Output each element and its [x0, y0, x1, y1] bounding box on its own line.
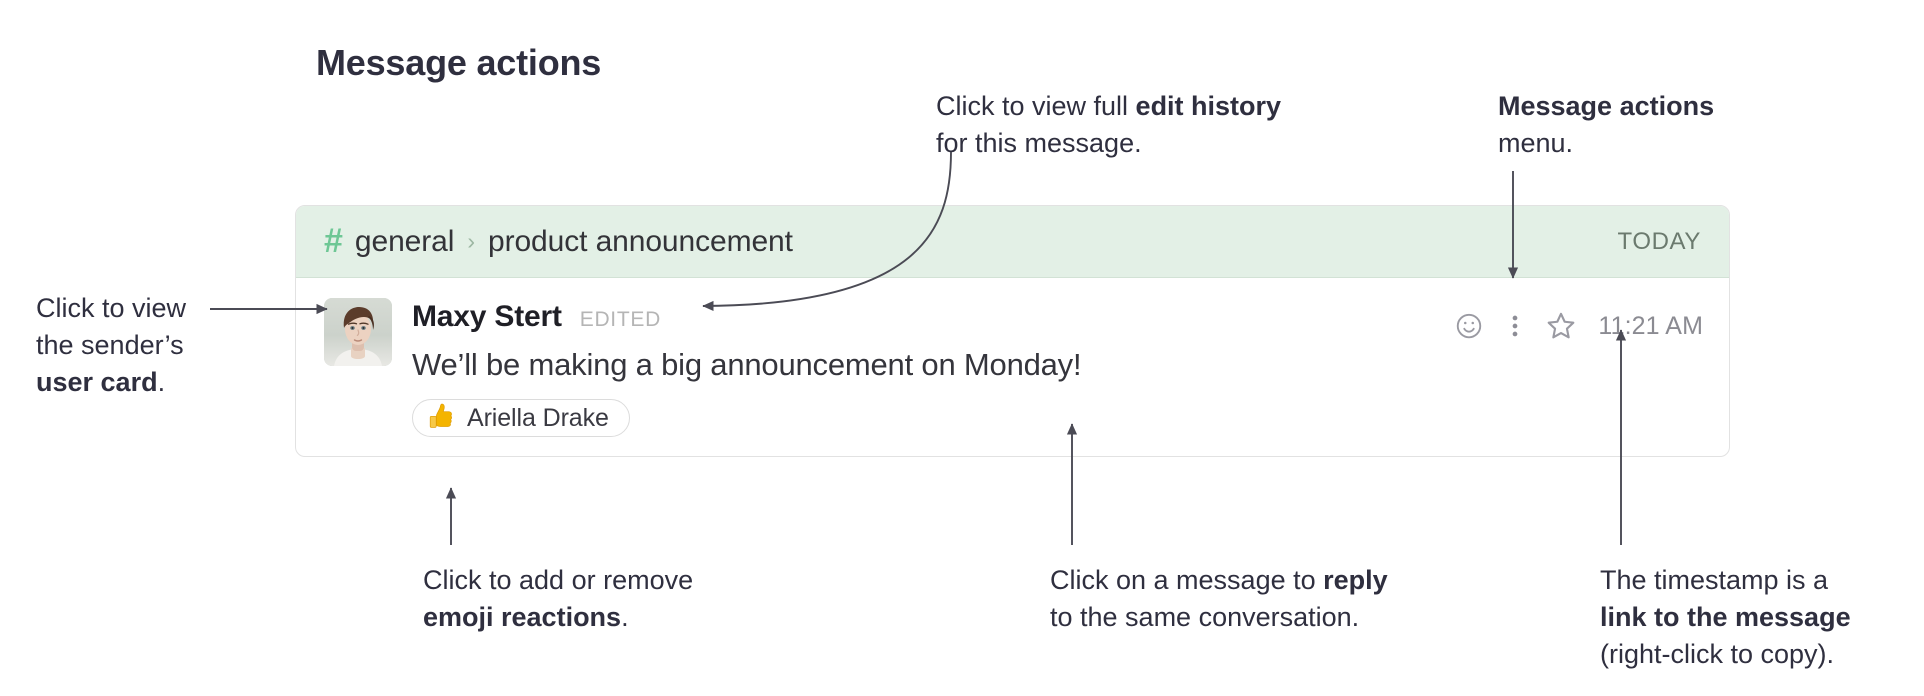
annotation-timestamp-line1: The timestamp is a — [1600, 562, 1851, 599]
avatar[interactable] — [324, 298, 392, 366]
annotation-actions-menu: Message actions menu. — [1498, 88, 1714, 162]
annotation-user-card-line2: the sender’s — [36, 327, 186, 364]
reaction-pill[interactable]: Ariella Drake — [412, 399, 630, 437]
annotation-user-card: Click to view the sender’s user card. — [36, 290, 186, 401]
annotation-text: Click to view full — [936, 91, 1136, 121]
emoji-reaction-icon[interactable] — [1446, 306, 1492, 346]
message-controls: 11:21 AM — [1446, 306, 1703, 346]
topic-name-link[interactable]: product announcement — [488, 225, 793, 259]
annotation-reply-line1: Click on a message to reply — [1050, 562, 1388, 599]
stream-topic-header: # general › product announcement TODAY — [296, 206, 1729, 278]
annotation-emphasis: reply — [1323, 565, 1388, 595]
chevron-right-icon: › — [467, 228, 475, 255]
annotation-edit-history-line2: for this message. — [936, 125, 1281, 162]
date-label: TODAY — [1618, 228, 1701, 256]
stream-name-link[interactable]: general — [355, 225, 454, 259]
message-body[interactable]: We’ll be making a big announcement on Mo… — [412, 345, 1701, 385]
annotation-text: . — [621, 602, 629, 632]
annotation-text: Click on a message to — [1050, 565, 1323, 595]
reactions-row: Ariella Drake — [296, 385, 1729, 438]
reaction-user-names: Ariella Drake — [467, 404, 609, 433]
annotation-timestamp: The timestamp is a link to the message (… — [1600, 562, 1851, 673]
annotation-emphasis: Message actions — [1498, 91, 1714, 121]
annotation-actions-menu-line2: menu. — [1498, 125, 1714, 162]
message-card: # general › product announcement TODAY — [295, 205, 1730, 457]
thumbs-up-emoji — [427, 403, 457, 433]
annotation-emphasis: user card — [36, 367, 158, 397]
annotation-text: . — [158, 367, 166, 397]
annotation-edit-history-line1: Click to view full edit history — [936, 88, 1281, 125]
message-timestamp-link[interactable]: 11:21 AM — [1598, 312, 1703, 341]
annotation-timestamp-line2: link to the message — [1600, 599, 1851, 636]
annotation-reply-line2: to the same conversation. — [1050, 599, 1388, 636]
page-root: Message actions Click to view full edit … — [0, 0, 1924, 696]
annotation-emphasis: emoji reactions — [423, 602, 621, 632]
annotation-emphasis: link to the message — [1600, 602, 1851, 632]
message-row[interactable]: Maxy Stert EDITED We’ll be making a big … — [296, 278, 1729, 385]
page-title: Message actions — [316, 42, 601, 84]
sender-name[interactable]: Maxy Stert — [412, 300, 562, 334]
annotation-emphasis: edit history — [1136, 91, 1282, 121]
annotation-reply: Click on a message to reply to the same … — [1050, 562, 1388, 636]
annotation-emoji-line2: emoji reactions. — [423, 599, 693, 636]
annotation-user-card-line1: Click to view — [36, 290, 186, 327]
annotation-timestamp-line3: (right-click to copy). — [1600, 636, 1851, 673]
annotation-edit-history: Click to view full edit history for this… — [936, 88, 1281, 162]
hash-icon: # — [324, 224, 343, 258]
kebab-menu-icon[interactable] — [1492, 306, 1538, 346]
annotation-actions-menu-line1: Message actions — [1498, 88, 1714, 125]
edited-badge[interactable]: EDITED — [580, 308, 661, 332]
star-icon[interactable] — [1538, 306, 1584, 346]
annotation-emoji-line1: Click to add or remove — [423, 562, 693, 599]
annotation-emoji-reactions: Click to add or remove emoji reactions. — [423, 562, 693, 636]
annotation-user-card-line3: user card. — [36, 364, 186, 401]
